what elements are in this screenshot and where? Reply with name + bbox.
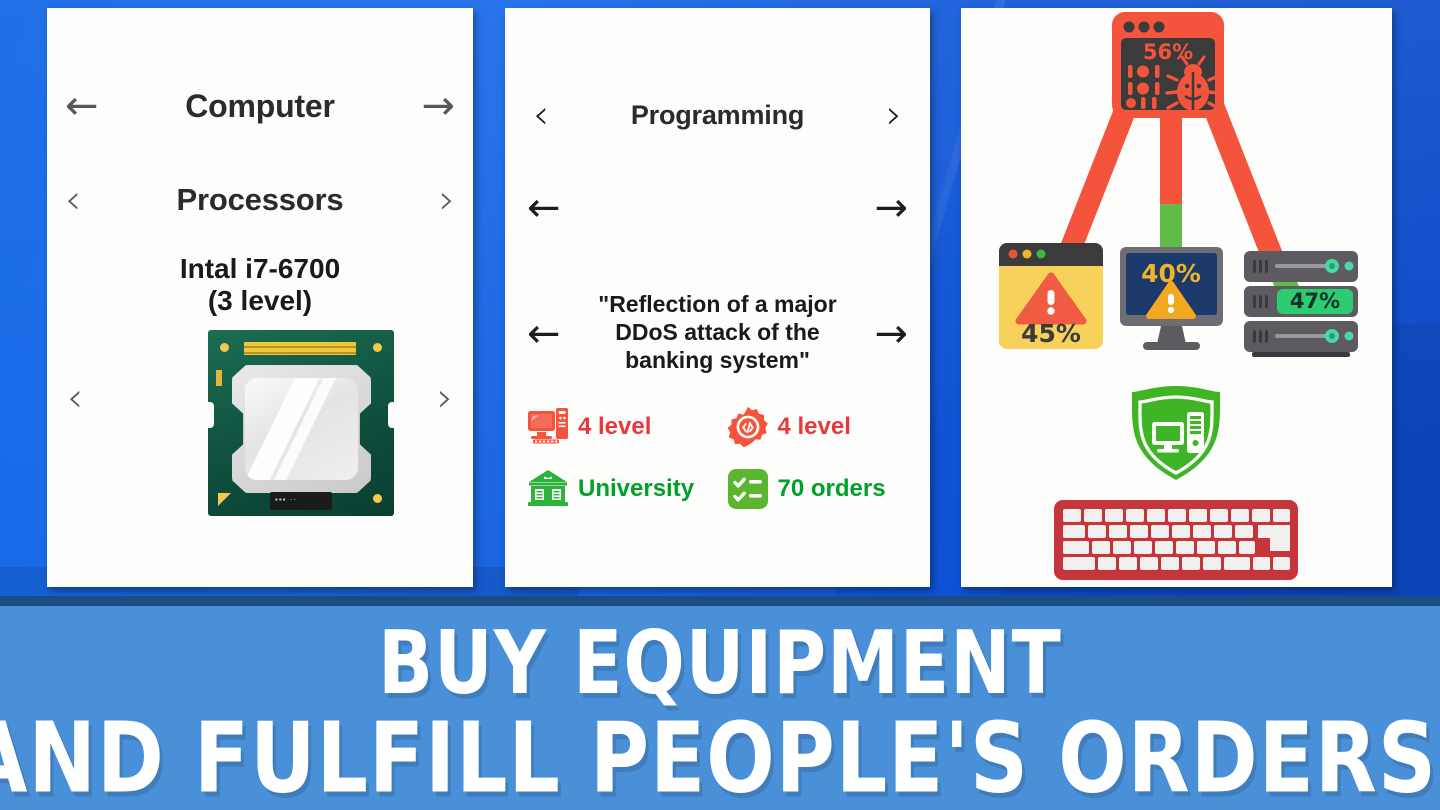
arrow-right-icon[interactable]: → — [874, 188, 908, 228]
cpu-corner-pad — [220, 343, 229, 352]
promo-line-1: BUY EQUIPMENT — [0, 620, 1440, 709]
cpu-label — [270, 492, 332, 510]
arrow-left-icon[interactable]: ← — [65, 86, 99, 126]
shop-panel: ← Computer → ‹ Processors › Intal i7-670… — [47, 8, 473, 587]
keyboard-icon — [1054, 500, 1298, 580]
requirement-label: 4 level — [578, 413, 651, 441]
desktop-computer-icon — [527, 406, 569, 448]
banner-divider — [0, 596, 1440, 606]
checklist-icon — [727, 468, 769, 510]
browser-window-warning-icon: 45% — [999, 243, 1103, 349]
university-building-icon — [527, 468, 569, 510]
project-nav-row: ← → — [505, 182, 930, 234]
description-nav-row: ← → — [505, 308, 930, 360]
chevron-left-icon[interactable]: ‹ — [67, 378, 83, 418]
promo-banner: BUY EQUIPMENT AND FULFILL PEOPLE'S ORDER… — [0, 606, 1440, 810]
order-requirements: 4 level 4 level — [527, 406, 920, 510]
arrow-right-icon[interactable]: → — [421, 86, 455, 126]
chevron-right-icon[interactable]: › — [439, 180, 455, 220]
browser-window-bug-icon: 56% — [1112, 12, 1224, 118]
chevron-left-icon[interactable]: ‹ — [533, 95, 549, 135]
shield-computer-icon — [1132, 386, 1220, 480]
chevron-right-icon[interactable]: › — [886, 95, 902, 135]
requirement-programming-level: 4 level — [727, 406, 921, 448]
category-nav-row: ← Computer → — [47, 80, 473, 132]
cpu-processor-image — [208, 330, 394, 516]
requirement-label: 70 orders — [778, 475, 886, 503]
code-gear-badge-icon — [727, 406, 769, 448]
cpu-corner-pad — [373, 494, 382, 503]
chevron-right-icon[interactable]: › — [437, 378, 453, 418]
cpu-corner-pad — [373, 343, 382, 352]
item-name: Intal i7-6700 (3 level) — [47, 253, 473, 316]
network-attack-diagram: 56% — [961, 8, 1392, 587]
cpu-notch — [207, 402, 214, 428]
server-rack-icon: 47% — [1244, 251, 1358, 357]
arrow-left-icon[interactable]: ← — [527, 314, 561, 354]
requirement-label: 4 level — [778, 413, 851, 441]
monitor-warning-icon: 40% — [1120, 247, 1223, 350]
arrow-right-icon[interactable]: → — [874, 314, 908, 354]
cpu-contact-bar — [244, 342, 356, 355]
cpu-heat-spreader — [245, 378, 358, 480]
requirement-label: University — [578, 475, 694, 503]
subcategory-label: Processors — [81, 182, 439, 218]
arrow-left-icon[interactable]: ← — [527, 188, 561, 228]
cpu-orientation-marker — [218, 493, 231, 506]
order-category-label: Programming — [549, 100, 886, 131]
requirement-education: University — [527, 468, 721, 510]
promo-line-2: AND FULFILL PEOPLE'S ORDERS! — [0, 709, 1440, 808]
network-panel: 56% — [961, 8, 1392, 587]
cpu-pin-group — [216, 370, 222, 386]
cpu-notch — [388, 402, 395, 428]
category-label: Computer — [99, 88, 422, 125]
requirement-computer-level: 4 level — [527, 406, 721, 448]
target1-percent: 45% — [1021, 319, 1081, 348]
requirement-orders-count: 70 orders — [727, 468, 921, 510]
item-name-line2: (3 level) — [47, 285, 473, 317]
promo-banner-text: BUY EQUIPMENT AND FULFILL PEOPLE'S ORDER… — [0, 620, 1440, 808]
subcategory-nav-row: ‹ Processors › — [47, 174, 473, 226]
order-panel: ‹ Programming › ← → 4 $7500 "Reflection … — [505, 8, 930, 587]
order-category-nav-row: ‹ Programming › — [505, 92, 930, 138]
target3-percent: 47% — [1290, 289, 1340, 313]
item-name-line1: Intal i7-6700 — [47, 253, 473, 285]
chevron-left-icon[interactable]: ‹ — [65, 180, 81, 220]
